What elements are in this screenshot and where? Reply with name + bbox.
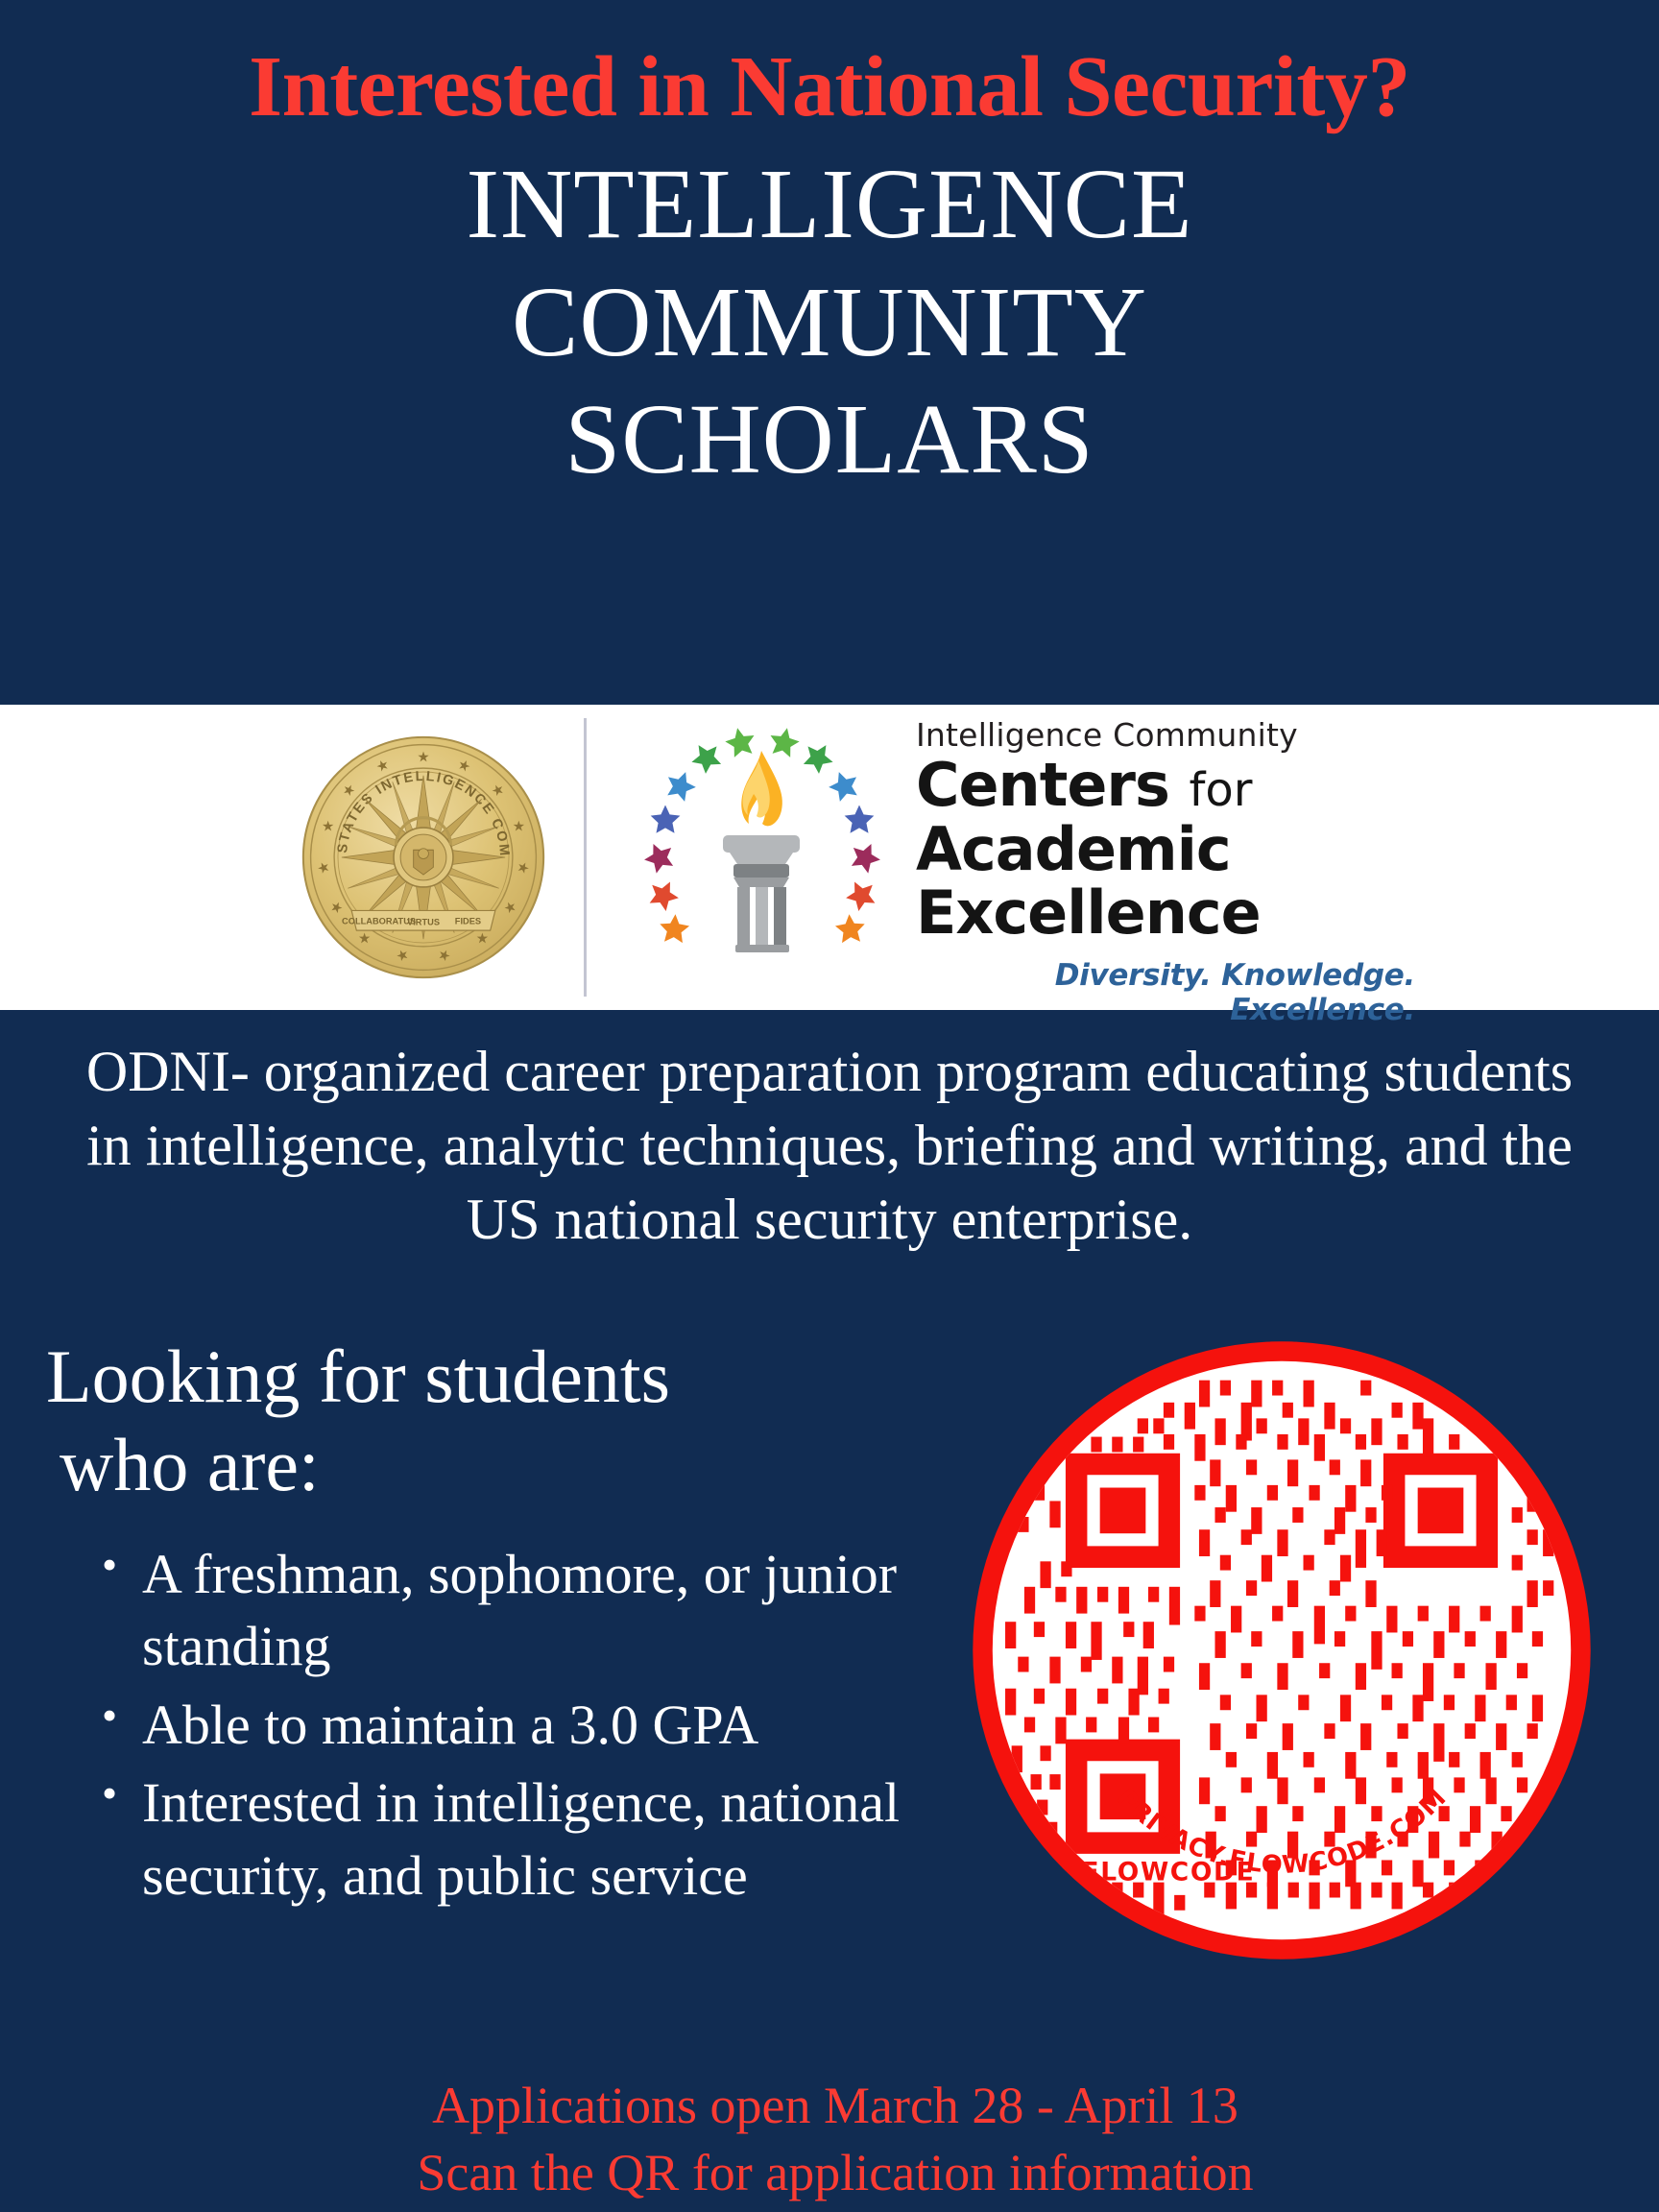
qr-code[interactable]: FLOWCODE PRIVACY.FLOWCODE.COM — [964, 1333, 1599, 1968]
page-title: INTELLIGENCE COMMUNITY SCHOLARS — [0, 131, 1659, 499]
looking-for-line-2: who are: — [46, 1421, 910, 1509]
title-line-1: INTELLIGENCE — [0, 146, 1659, 264]
logo-band: UNITED STATES INTELLIGENCE COMMUNITY — [0, 705, 1659, 1010]
looking-for-line-1: Looking for students — [46, 1333, 910, 1421]
title-line-2: COMMUNITY — [0, 264, 1659, 382]
cae-kicker: Intelligence Community — [916, 718, 1415, 753]
cae-line-academic: Academic — [916, 819, 1415, 880]
cae-line-excellence: Excellence — [916, 882, 1415, 944]
footer-callout: Applications open March 28 - April 13 Sc… — [173, 2072, 1498, 2206]
cae-wordmark: Intelligence Community Centers for Acade… — [916, 710, 1415, 1027]
cae-for: for — [1189, 763, 1252, 817]
torch-with-stars-icon — [622, 718, 901, 958]
cae-centers: Centers — [916, 750, 1169, 820]
footer-line-1: Applications open March 28 - April 13 — [173, 2072, 1498, 2139]
program-description: ODNI- organized career preparation progr… — [71, 1035, 1588, 1256]
headline-block: Interested in National Security? INTELLI… — [0, 0, 1659, 705]
seal-motto-right: FIDES — [455, 917, 481, 926]
seal-motto-left: COLLABORATUS — [342, 917, 416, 926]
seal-motto-center: VIRTUS — [407, 917, 440, 926]
list-item: Interested in intelligence, national sec… — [142, 1767, 1006, 1911]
poster-root: Interested in National Security? INTELLI… — [0, 0, 1659, 2212]
ic-seal-logo: UNITED STATES INTELLIGENCE COMMUNITY — [300, 716, 547, 998]
cae-line-centers-for: Centers for — [916, 755, 1415, 816]
looking-for-heading: Looking for students who are: — [46, 1333, 910, 1509]
flame-icon — [741, 751, 782, 826]
list-item: Able to maintain a 3.0 GPA — [142, 1689, 1006, 1761]
cae-tagline: Diversity. Knowledge. Excellence. — [916, 958, 1415, 1027]
footer-line-2: Scan the QR for application information — [173, 2139, 1498, 2206]
hook-question: Interested in National Security? — [0, 0, 1659, 131]
criteria-list: A freshman, sophomore, or junior standin… — [92, 1538, 1006, 1917]
cae-logo: Intelligence Community Centers for Acade… — [622, 710, 1419, 1004]
list-item: A freshman, sophomore, or junior standin… — [142, 1538, 1006, 1683]
flowcode-qr-icon[interactable]: FLOWCODE PRIVACY.FLOWCODE.COM — [964, 1333, 1599, 1968]
title-line-3: SCHOLARS — [0, 381, 1659, 499]
logo-divider — [584, 718, 587, 997]
ic-seal-icon: UNITED STATES INTELLIGENCE COMMUNITY — [300, 733, 547, 981]
